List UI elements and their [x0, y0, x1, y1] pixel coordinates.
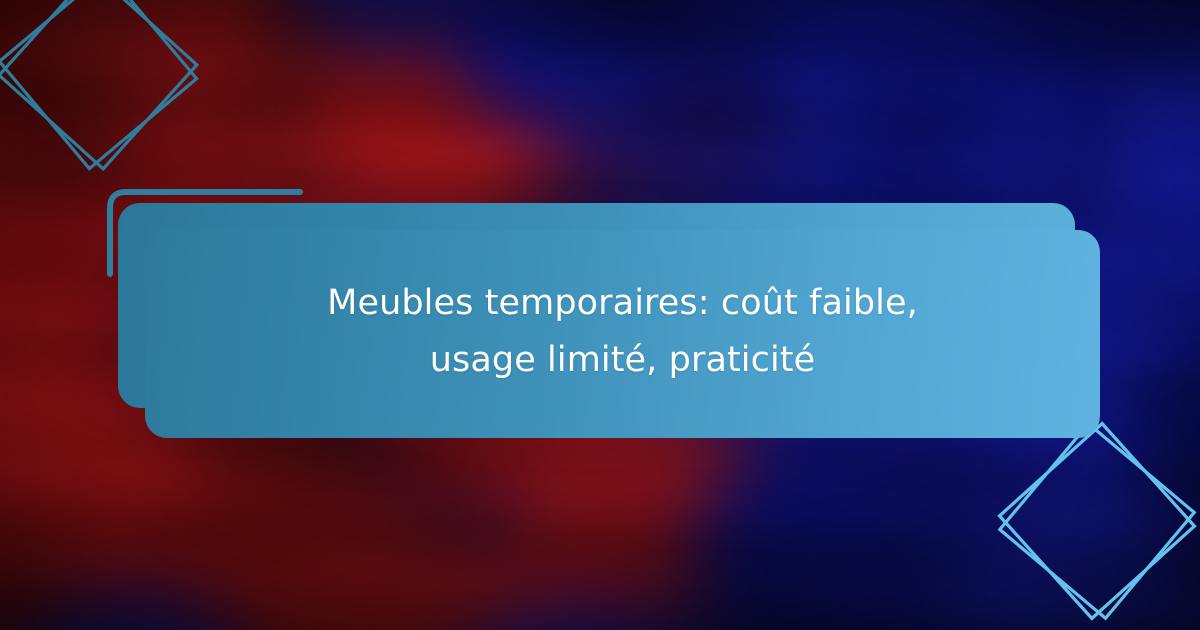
title-card: Meubles temporaires: coût faible, usage …	[145, 230, 1100, 438]
card-title: Meubles temporaires: coût faible, usage …	[273, 275, 973, 388]
banner-canvas: Meubles temporaires: coût faible, usage …	[0, 0, 1200, 630]
